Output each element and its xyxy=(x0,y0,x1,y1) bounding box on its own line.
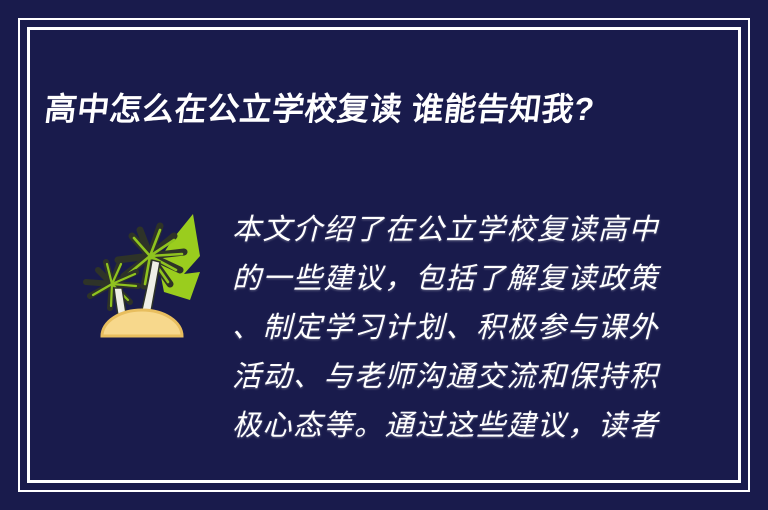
body-line: 的一些建议，包括了解复读政策 xyxy=(232,255,652,304)
body-line: 活动、与老师沟通交流和保持积 xyxy=(232,353,652,402)
body-line: 极心态等。通过这些建议，读者 xyxy=(232,402,652,451)
body-line: 、制定学习计划、积极参与课外 xyxy=(232,304,652,353)
sand-mound xyxy=(102,310,182,336)
page-title: 高中怎么在公立学校复读 谁能告知我? xyxy=(41,83,658,136)
palm-tree-island-icon xyxy=(72,196,220,346)
card-content: 高中怎么在公立学校复读 谁能告知我? xyxy=(0,0,768,510)
body-line: 本文介绍了在公立学校复读高中 xyxy=(232,206,652,255)
article-summary-text: 本文介绍了在公立学校复读高中 的一些建议，包括了解复读政策 、制定学习计划、积极… xyxy=(232,206,652,451)
article-card: 高中怎么在公立学校复读 谁能告知我? xyxy=(0,0,768,510)
